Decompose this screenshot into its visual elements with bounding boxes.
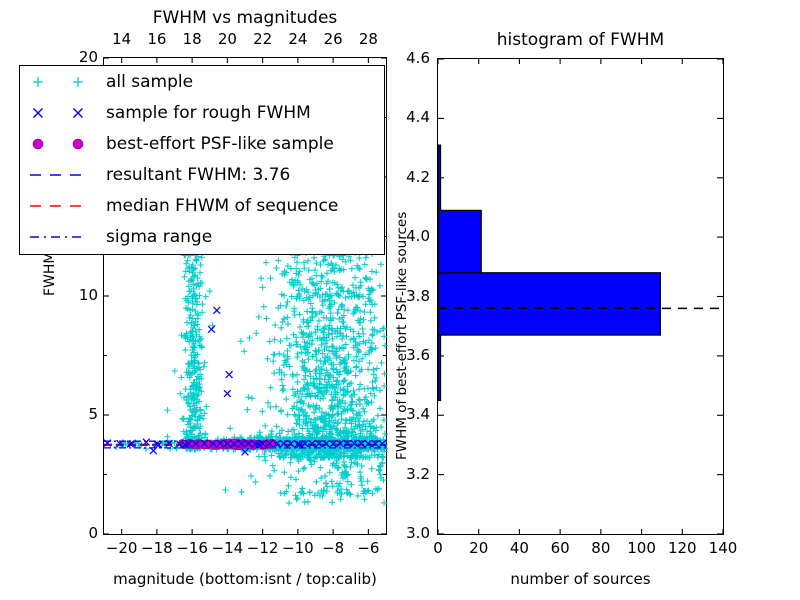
left-panel-legend: all samplesample for rough FWHMbest-effo… xyxy=(19,65,385,255)
right-xtick-label: 80 xyxy=(584,539,618,557)
legend-item-label: all sample xyxy=(104,72,193,92)
left-xaxis-label: magnitude (bottom:isnt / top:calib) xyxy=(103,570,387,588)
right-panel-title: histogram of FWHM xyxy=(437,30,724,50)
xtick-top-label: 20 xyxy=(216,30,238,48)
xtick-bottom-label: −10 xyxy=(281,539,315,557)
right-xtick-label: 60 xyxy=(543,539,577,557)
xtick-top-label: 26 xyxy=(322,30,344,48)
right-xtick-label: 20 xyxy=(462,539,496,557)
figure-canvas: FWHM vs magnitudes 1416182022242628 −20−… xyxy=(0,0,800,600)
ytick-label: 20 xyxy=(68,48,98,66)
right-panel-axes xyxy=(437,58,724,535)
legend-item-4: median FHWM of sequence xyxy=(20,190,384,221)
legend-marker-plus-icon xyxy=(20,69,104,95)
legend-item-label: resultant FWHM: 3.76 xyxy=(104,165,290,185)
right-xtick-label: 120 xyxy=(665,539,699,557)
xtick-bottom-label: −16 xyxy=(175,539,209,557)
xtick-top-label: 22 xyxy=(252,30,274,48)
legend-marker-dashed-icon xyxy=(20,162,104,188)
right-yaxis-label: FWHM of best-effort PSF-like sources xyxy=(394,212,410,460)
legend-marker-dot-icon xyxy=(20,131,104,157)
right-xtick-label: 100 xyxy=(625,539,659,557)
xtick-bottom-label: −6 xyxy=(351,539,385,557)
xtick-bottom-label: −8 xyxy=(316,539,350,557)
right-ytick-label: 4.2 xyxy=(392,168,430,186)
legend-item-label: sigma range xyxy=(104,227,212,247)
ytick-label: 5 xyxy=(68,405,98,423)
legend-item-label: sample for rough FWHM xyxy=(104,103,311,123)
legend-marker-dashed-icon xyxy=(20,193,104,219)
ytick-label: 0 xyxy=(68,524,98,542)
legend-marker-cross-icon xyxy=(20,100,104,126)
xtick-top-label: 28 xyxy=(357,30,379,48)
legend-item-1: sample for rough FWHM xyxy=(20,97,384,128)
legend-marker-dashdot-icon xyxy=(20,224,104,250)
right-ytick-label: 3.0 xyxy=(392,524,430,542)
legend-item-label: median FHWM of sequence xyxy=(104,196,338,216)
legend-item-3: resultant FWHM: 3.76 xyxy=(20,159,384,190)
legend-item-2: best-effort PSF-like sample xyxy=(20,128,384,159)
left-panel-title: FWHM vs magnitudes xyxy=(103,8,387,28)
right-xtick-label: 40 xyxy=(502,539,536,557)
ytick-label: 10 xyxy=(68,286,98,304)
legend-item-label: best-effort PSF-like sample xyxy=(104,134,334,154)
xtick-bottom-label: −12 xyxy=(246,539,280,557)
histogram-canvas xyxy=(438,59,723,534)
xtick-top-label: 24 xyxy=(287,30,309,48)
right-xtick-label: 140 xyxy=(706,539,740,557)
right-ytick-label: 3.2 xyxy=(392,465,430,483)
xtick-bottom-label: −18 xyxy=(140,539,174,557)
legend-item-5: sigma range xyxy=(20,221,384,252)
legend-item-0: all sample xyxy=(20,66,384,97)
xtick-top-label: 14 xyxy=(111,30,133,48)
xtick-bottom-label: −20 xyxy=(105,539,139,557)
right-xaxis-label: number of sources xyxy=(437,570,724,588)
right-ytick-label: 4.6 xyxy=(392,49,430,67)
xtick-top-label: 18 xyxy=(181,30,203,48)
xtick-bottom-label: −14 xyxy=(210,539,244,557)
right-ytick-label: 4.4 xyxy=(392,108,430,126)
xtick-top-label: 16 xyxy=(146,30,168,48)
